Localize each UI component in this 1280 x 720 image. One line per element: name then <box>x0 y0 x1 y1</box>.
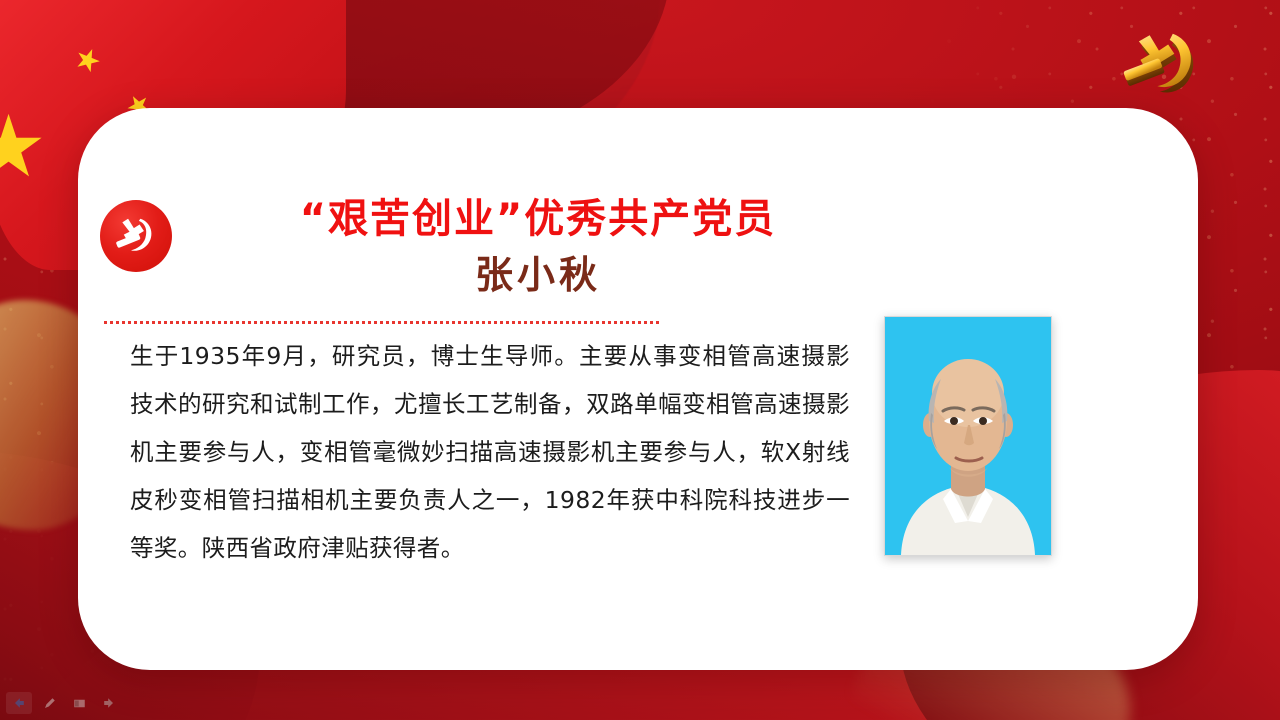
slide-menu-button[interactable] <box>66 692 92 714</box>
next-slide-button[interactable] <box>96 692 122 714</box>
cpc-hammer-sickle-emblem-gold <box>1114 26 1210 100</box>
person-name: 张小秋 <box>188 247 888 302</box>
portrait-illustration <box>885 317 1051 555</box>
dotted-divider <box>104 321 660 324</box>
content-card: “艰苦创业”优秀共产党员 张小秋 生于1935年9月，研究员，博士生导师。主要从… <box>78 108 1198 670</box>
flag-star-small-1: ★ <box>69 42 105 80</box>
pen-icon <box>42 696 57 711</box>
cpc-party-badge <box>100 200 172 272</box>
page-title: “艰苦创业”优秀共产党员 <box>188 194 888 245</box>
previous-slide-button[interactable] <box>6 692 32 714</box>
flag-star-large: ★ <box>0 104 47 190</box>
hammer-sickle-icon <box>113 213 159 259</box>
portrait-photo-zhang-xiaoqiu <box>884 316 1052 556</box>
heading-block: “艰苦创业”优秀共产党员 张小秋 <box>188 194 888 302</box>
menu-icon <box>72 696 87 711</box>
pen-annotation-button[interactable] <box>36 692 62 714</box>
slideshow-toolbar[interactable] <box>6 692 122 714</box>
presentation-slide: ★ ★ ★ ★ ★ <box>0 0 1280 720</box>
arrow-left-icon <box>11 695 27 711</box>
arrow-right-icon <box>101 695 117 711</box>
page-title-quoted: “艰苦创业” <box>300 196 525 242</box>
page-title-rest: 优秀共产党员 <box>524 196 776 242</box>
biography-text: 生于1935年9月，研究员，博士生导师。主要从事变相管高速摄影技术的研究和试制工… <box>130 332 850 572</box>
